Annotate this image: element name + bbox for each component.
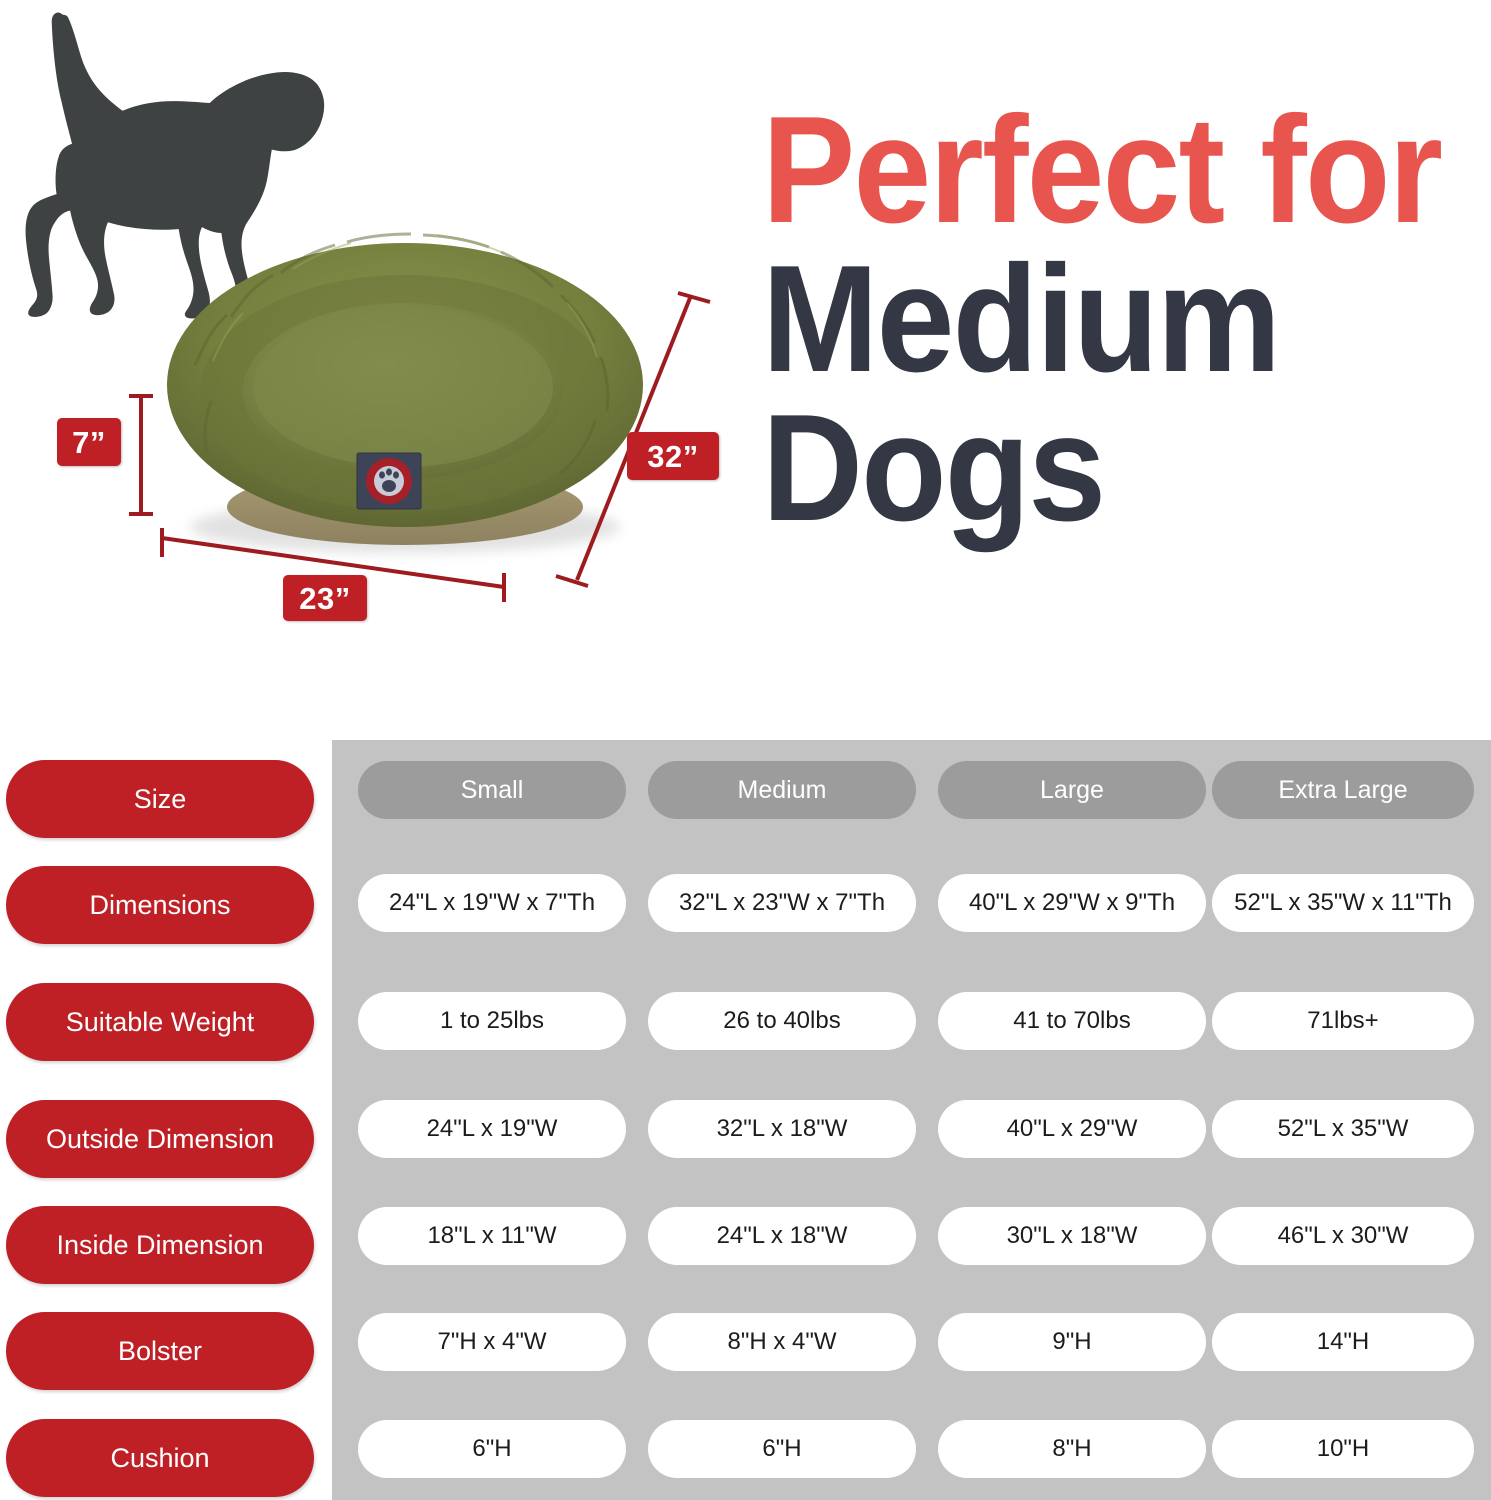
spec-cell: 24"L x 18"W [648, 1207, 916, 1265]
spec-column-header: Extra Large [1212, 761, 1474, 819]
spec-cell: 18"L x 11"W [358, 1207, 626, 1265]
spec-column-header: Large [938, 761, 1206, 819]
headline-block: Perfect for Medium Dogs [762, 96, 1482, 543]
brand-tag [357, 453, 421, 509]
spec-cell: 10"H [1212, 1420, 1474, 1478]
size-spec-table: SizeDimensionsSuitable WeightOutside Dim… [0, 740, 1491, 1500]
spec-cell: 6"H [648, 1420, 916, 1478]
spec-row-label: Dimensions [6, 866, 314, 944]
spec-row-label: Cushion [6, 1419, 314, 1497]
length-dimension-badge: 32” [627, 432, 719, 480]
headline-line-2: Medium [762, 245, 1424, 394]
spec-row-label: Size [6, 760, 314, 838]
spec-cell: 24"L x 19"W x 7"Th [358, 874, 626, 932]
spec-row-label: Inside Dimension [6, 1206, 314, 1284]
spec-cell: 30"L x 18"W [938, 1207, 1206, 1265]
spec-row-label-column: SizeDimensionsSuitable WeightOutside Dim… [0, 740, 320, 1500]
spec-row-label: Bolster [6, 1312, 314, 1390]
spec-cell: 7"H x 4"W [358, 1313, 626, 1371]
spec-row-label: Outside Dimension [6, 1100, 314, 1178]
spec-cell: 14"H [1212, 1313, 1474, 1371]
spec-cell: 9"H [938, 1313, 1206, 1371]
height-measure-line [126, 390, 156, 520]
spec-cell: 1 to 25lbs [358, 992, 626, 1050]
spec-cell: 41 to 70lbs [938, 992, 1206, 1050]
spec-cell: 26 to 40lbs [648, 992, 916, 1050]
headline-line-1: Perfect for [762, 96, 1424, 245]
spec-row-label: Suitable Weight [6, 983, 314, 1061]
spec-cell: 32"L x 18"W [648, 1100, 916, 1158]
spec-cell: 71lbs+ [1212, 992, 1474, 1050]
height-dimension-badge: 7” [57, 418, 121, 466]
spec-cell: 52"L x 35"W [1212, 1100, 1474, 1158]
spec-cell: 32"L x 23"W x 7"Th [648, 874, 916, 932]
spec-cell: 52"L x 35"W x 11"Th [1212, 874, 1474, 932]
width-dimension-badge: 23” [283, 575, 367, 621]
spec-cell: 6"H [358, 1420, 626, 1478]
spec-cell: 8"H x 4"W [648, 1313, 916, 1371]
spec-cell: 40"L x 29"W [938, 1100, 1206, 1158]
spec-cell: 8"H [938, 1420, 1206, 1478]
spec-cell: 24"L x 19"W [358, 1100, 626, 1158]
spec-column-header: Medium [648, 761, 916, 819]
spec-cell: 46"L x 30"W [1212, 1207, 1474, 1265]
spec-column-header: Small [358, 761, 626, 819]
spec-cell: 40"L x 29"W x 9"Th [938, 874, 1206, 932]
headline-line-3: Dogs [762, 394, 1424, 543]
hero-section: 7” 32” 23” Perfect for Medium Dogs [0, 0, 1491, 735]
